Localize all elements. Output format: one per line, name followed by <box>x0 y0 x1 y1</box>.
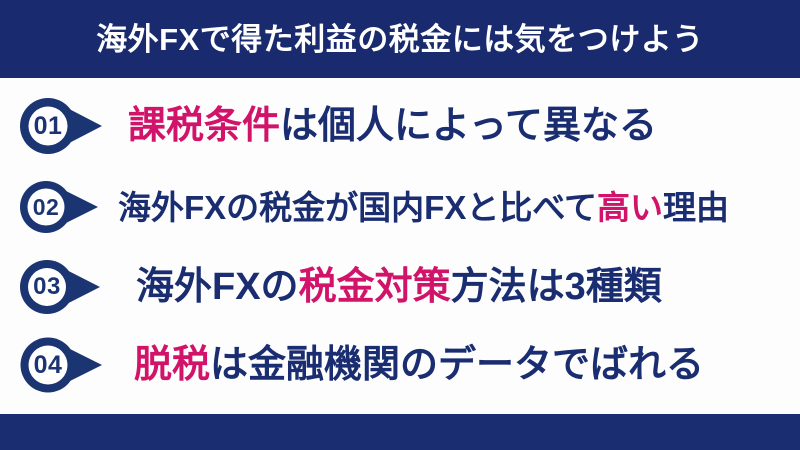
highlight-text: 税金対策 <box>299 268 451 306</box>
list-item-text-02: 海外FXの税金が国内FXと比べて高い理由 <box>106 191 800 224</box>
number-badge-02: 02 <box>14 175 106 239</box>
list-item-text-03: 海外FXの税金対策方法は3種類 <box>108 268 800 306</box>
page-title: 海外FXで得た利益の税金には気をつけよう <box>96 24 704 55</box>
pin-arrow-icon <box>14 175 106 239</box>
plain-text: 海外FXの <box>136 268 299 306</box>
number-badge-04: 04 <box>14 331 110 399</box>
list-item: 01 課税条件は個人によって異なる <box>0 92 800 160</box>
header-bar: 海外FXで得た利益の税金には気をつけよう <box>0 0 800 78</box>
pin-arrow-icon <box>14 331 110 399</box>
pin-arrow-icon <box>14 254 108 320</box>
highlight-text: 課税条件 <box>128 107 280 145</box>
plain-text: 方法は3種類 <box>451 268 662 306</box>
list-item: 03 海外FXの税金対策方法は3種類 <box>0 253 800 321</box>
list-item-text-04: 脱税は金融機関のデータでばれる <box>110 346 800 384</box>
number-badge-01: 01 <box>14 92 110 160</box>
highlight-text: 脱税 <box>134 346 210 384</box>
pin-arrow-icon <box>14 92 110 160</box>
plain-text: は金融機関のデータでばれる <box>210 346 704 384</box>
plain-text: 海外FXの税金が国内FXと比べて <box>118 191 597 224</box>
list-item-text-01: 課税条件は個人によって異なる <box>110 107 800 145</box>
footer-bar <box>0 414 800 450</box>
highlight-text: 高い <box>597 191 663 224</box>
plain-text: は個人によって異なる <box>280 107 657 145</box>
list-item: 04 脱税は金融機関のデータでばれる <box>0 330 800 400</box>
number-badge-03: 03 <box>14 254 108 320</box>
infographic-canvas: 海外FXで得た利益の税金には気をつけよう 01 課税条件は個人によって異なる 0… <box>0 0 800 450</box>
plain-text: 理由 <box>663 191 729 224</box>
list-item: 02 海外FXの税金が国内FXと比べて高い理由 <box>0 175 800 239</box>
